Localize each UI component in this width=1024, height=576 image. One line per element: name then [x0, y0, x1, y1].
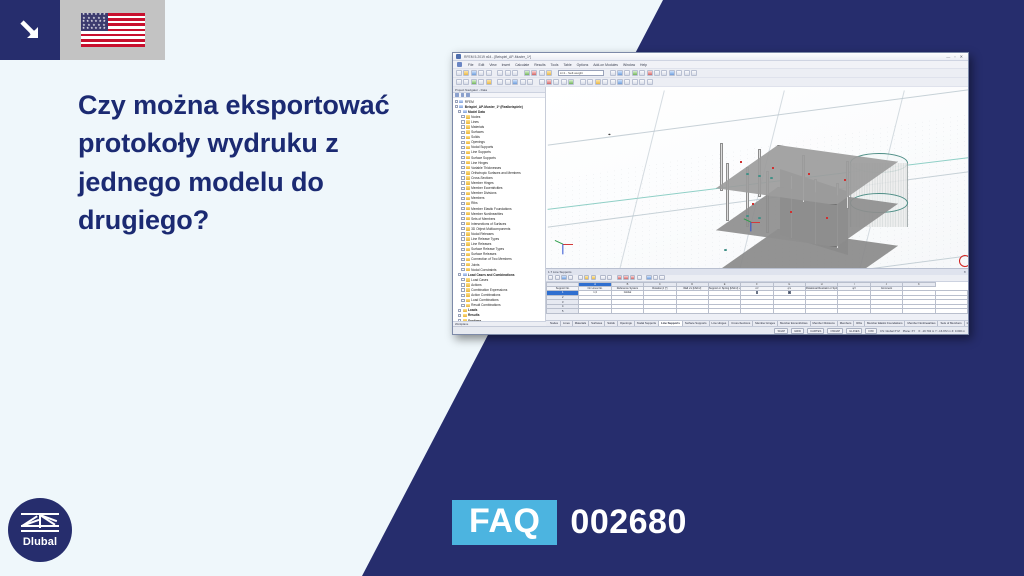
tree-folder-icon: [466, 171, 470, 174]
menu-item-calculate[interactable]: Calculate: [515, 63, 529, 67]
line-load-icon[interactable]: [546, 79, 552, 85]
open-file-icon[interactable]: [463, 70, 469, 76]
navigator-expand-icon[interactable]: [455, 93, 459, 97]
tree-expand-icon[interactable]: [458, 309, 461, 312]
hinge-marker: [724, 249, 727, 251]
node-marker: [752, 203, 754, 205]
tree-item-label: Results: [468, 313, 480, 317]
table-prev-icon[interactable]: [623, 275, 628, 280]
zoom-icon[interactable]: [539, 70, 545, 76]
tree-folder-icon: [463, 273, 467, 276]
tree-item-label: Action Combinations: [471, 293, 500, 297]
surface-load-icon[interactable]: [553, 79, 559, 85]
dlubal-logo: Dlubal: [8, 498, 72, 562]
cut-icon[interactable]: [497, 70, 503, 76]
surface-tool-icon[interactable]: [486, 79, 492, 85]
tree-item-label: Materials: [471, 125, 484, 129]
tree-folder-icon: [463, 110, 467, 113]
line-tool-icon[interactable]: [471, 79, 477, 85]
minimize-icon[interactable]: —: [946, 55, 950, 59]
menu-bar: File Edit View Insert Calculate Results …: [453, 61, 968, 69]
tree-expand-icon[interactable]: [455, 100, 458, 103]
axis-display-icon[interactable]: [647, 79, 653, 85]
tree-expand-icon[interactable]: [461, 212, 464, 215]
status-chip[interactable]: DXF: [865, 328, 877, 334]
tree-expand-icon[interactable]: [461, 120, 464, 123]
table-cell[interactable]: [579, 309, 611, 314]
tree-folder-icon: [466, 197, 470, 200]
menu-item-file[interactable]: File: [468, 63, 473, 67]
print-preview-icon[interactable]: [486, 70, 492, 76]
tree-expand-icon[interactable]: [461, 222, 464, 225]
surface-results-icon[interactable]: [632, 70, 638, 76]
faq-badge: FAQ: [452, 500, 557, 545]
tree-expand-icon[interactable]: [461, 268, 464, 271]
node-marker: [740, 161, 742, 163]
navigator-collapse-icon[interactable]: [461, 93, 465, 97]
support-tool-icon[interactable]: [512, 79, 518, 85]
tree-item-label: Surface Supports: [471, 156, 496, 160]
tree-item-label: Line Supports: [471, 150, 491, 154]
checkbox-icon[interactable]: [756, 291, 759, 294]
view-xy-icon[interactable]: [676, 70, 682, 76]
tree-item-label: Solids: [471, 135, 480, 139]
tree-folder-icon: [466, 278, 470, 281]
select-icon[interactable]: [456, 79, 462, 85]
grid-toggle-icon[interactable]: [654, 70, 660, 76]
tree-folder-icon: [466, 120, 470, 123]
comment-cell[interactable]: [935, 309, 968, 314]
tree-item-label: Load Combinations: [471, 298, 498, 302]
rfem-application-screenshot: RFEM 5.2019 x64 - [Beispiel_AP-Muster_1*…: [452, 52, 969, 335]
dlubal-truss-icon: [21, 513, 59, 533]
menu-item-insert[interactable]: Insert: [502, 63, 510, 67]
new-file-icon[interactable]: [456, 70, 462, 76]
tree-folder-icon: [466, 253, 470, 256]
tree-expand-icon[interactable]: [461, 202, 464, 205]
tree-expand-icon[interactable]: [461, 217, 464, 220]
tree-folder-icon: [466, 151, 470, 154]
table-panel: 1.7 Line Supports ✕ ABCDEFGH: [546, 268, 968, 326]
table-cell[interactable]: [644, 309, 676, 314]
tree-folder-icon: [466, 258, 470, 261]
tree-item-label: Member Nonlinearities: [471, 212, 503, 216]
node-marker: [808, 173, 810, 175]
clipping-icon[interactable]: [639, 79, 645, 85]
tree-item-label: Openings: [471, 140, 485, 144]
close-icon[interactable]: ✕: [960, 55, 963, 59]
table-export-icon[interactable]: [653, 275, 658, 280]
tree-folder-icon: [466, 161, 470, 164]
tree-item-label: Lines: [471, 120, 479, 124]
tree-expand-icon[interactable]: [461, 248, 464, 251]
united-states-flag-icon: ★★★★★★ ★★★★★ ★★★★★★ ★★★★★ ★★★★★★: [81, 13, 145, 47]
faq-number: 002680: [570, 503, 686, 542]
node-marker: [772, 167, 774, 169]
status-chip[interactable]: CARTES: [807, 328, 824, 334]
tree-folder-icon: [466, 222, 470, 225]
tree-expand-icon[interactable]: [461, 288, 464, 291]
table-last-icon[interactable]: [637, 275, 642, 280]
tree-expand-icon[interactable]: [461, 283, 464, 286]
secondary-toolbar: [453, 78, 968, 87]
paste-icon[interactable]: [512, 70, 518, 76]
table-checkbox-cell[interactable]: [806, 309, 838, 314]
arrow-down-right-icon: [0, 0, 60, 60]
menu-item-options[interactable]: Options: [577, 63, 589, 67]
node-tool-icon[interactable]: [463, 79, 469, 85]
tree-expand-icon[interactable]: [461, 299, 464, 302]
view-iso-icon[interactable]: [669, 70, 675, 76]
settings-icon[interactable]: [610, 79, 616, 85]
tree-item-label: Loads: [468, 308, 477, 312]
table-close-icon[interactable]: ✕: [963, 270, 968, 274]
member-results-icon[interactable]: [639, 70, 645, 76]
tree-item-label: Nodes: [471, 115, 480, 119]
table-redo-icon[interactable]: [607, 275, 612, 280]
table-print-icon[interactable]: [659, 275, 664, 280]
tree-item-label: Member Eccentricities: [471, 186, 502, 190]
tree-folder-icon: [466, 268, 470, 271]
status-chip[interactable]: SNAP: [774, 328, 788, 334]
tree-expand-icon[interactable]: [461, 156, 464, 159]
tree-item-label: Surface Release Types: [471, 247, 504, 251]
table-new-row-icon[interactable]: [548, 275, 553, 280]
calculate-icon[interactable]: [610, 70, 616, 76]
tree-item-label: 3D Object Multicomponents: [471, 227, 510, 231]
table-checkbox-cell[interactable]: [903, 309, 935, 314]
table-next-icon[interactable]: [630, 275, 635, 280]
global-axis-triad: [562, 239, 576, 253]
tree-expand-icon[interactable]: [461, 115, 464, 118]
tree-item-label: Nodal Constraints: [471, 268, 496, 272]
tree-folder-icon: [466, 176, 470, 179]
menu-item-window[interactable]: Window: [623, 63, 635, 67]
tree-folder-icon: [466, 146, 470, 149]
measure-icon[interactable]: [587, 79, 593, 85]
tree-expand-icon[interactable]: [461, 171, 464, 174]
results-icon[interactable]: [617, 70, 623, 76]
view-xz-icon[interactable]: [684, 70, 690, 76]
thickness-tool-icon[interactable]: [527, 79, 533, 85]
tree-item-label: Surface Releases: [471, 252, 496, 256]
free-load-icon[interactable]: [561, 79, 567, 85]
node-marker: [826, 217, 828, 219]
tree-folder-icon: [466, 227, 470, 230]
section-icon[interactable]: [632, 79, 638, 85]
tree-item-label: Member Hinges: [471, 181, 494, 185]
table-first-icon[interactable]: [617, 275, 622, 280]
tree-item-label: RFEM: [465, 100, 474, 104]
table-delete-row-icon[interactable]: [555, 275, 560, 280]
tree-expand-icon[interactable]: [455, 105, 458, 108]
table-checkbox-cell[interactable]: [773, 309, 805, 314]
node-marker: [844, 179, 846, 181]
tree-folder-icon: [466, 136, 470, 139]
tree-folder-icon: [466, 186, 470, 189]
printout-report-icon[interactable]: [595, 79, 601, 85]
table-toolbar: [546, 275, 968, 282]
table-color-icon[interactable]: [591, 275, 596, 280]
status-toggle-chips[interactable]: SNAPGRIDCARTESOSNAPGLINESDXF: [774, 328, 877, 334]
tree-expand-icon[interactable]: [461, 125, 464, 128]
local-axis-triad: [750, 217, 762, 229]
tree-folder-icon: [463, 309, 467, 312]
tree-item-label: Line Releases: [471, 242, 491, 246]
tree-folder-icon: [466, 237, 470, 240]
tree-item-label: Line Release Types: [471, 237, 499, 241]
tree-folder-icon: [466, 141, 470, 144]
column: [726, 163, 729, 221]
tree-expand-icon[interactable]: [461, 263, 464, 266]
model-tree[interactable]: RFEMBeispiel_AP-Muster_1* (Realbeispiele…: [453, 98, 545, 329]
tree-expand-icon[interactable]: [458, 110, 461, 113]
tree-folder-icon: [466, 283, 470, 286]
tree-expand-icon[interactable]: [461, 243, 464, 246]
tree-item-label: Surfaces: [471, 130, 484, 134]
tree-item-label: Line Hinges: [471, 161, 488, 165]
main-toolbar: LC1 - Self-weight: [453, 69, 968, 78]
tree-item-label: Load Cases: [471, 278, 488, 282]
status-chip[interactable]: OSNAP: [827, 328, 843, 334]
mouse-cursor-icon: ⌖: [608, 133, 612, 138]
screenshot-icon[interactable]: [602, 79, 608, 85]
tree-expand-icon[interactable]: [461, 166, 464, 169]
menu-item-help[interactable]: Help: [640, 63, 647, 67]
redo-icon[interactable]: [531, 70, 537, 76]
tree-expand-icon[interactable]: [461, 181, 464, 184]
window-titlebar: RFEM 5.2019 x64 - [Beispiel_AP-Muster_1*…: [453, 53, 968, 61]
tree-item-label: Members: [471, 196, 484, 200]
tree-expand-icon[interactable]: [461, 176, 464, 179]
status-bar: SNAPGRIDCARTESOSNAPGLINESDXF CS: Global …: [453, 326, 968, 334]
tree-folder-icon: [463, 314, 467, 317]
tree-folder-icon: [466, 293, 470, 296]
page-title: Czy można eksportować protokoły wydruku …: [78, 86, 438, 239]
tree-expand-icon[interactable]: [461, 294, 464, 297]
snap-toggle-icon[interactable]: [661, 70, 667, 76]
logo-wordmark: Dlubal: [23, 536, 57, 548]
tree-expand-icon[interactable]: [461, 227, 464, 230]
column-letter-header[interactable]: K: [903, 282, 935, 286]
tree-item-label: Model Data: [468, 110, 485, 114]
tree-folder-icon: [466, 207, 470, 210]
table-edit-icon[interactable]: [561, 275, 566, 280]
tree-expand-icon[interactable]: [461, 187, 464, 190]
top-left-badges: ★★★★★★ ★★★★★ ★★★★★★ ★★★★★ ★★★★★★: [0, 0, 165, 60]
tree-expand-icon[interactable]: [461, 161, 464, 164]
tree-item-label: Cross-Sections: [471, 176, 493, 180]
tree-folder-icon: [466, 156, 470, 159]
maximize-icon[interactable]: ▫: [954, 55, 955, 59]
tree-expand-icon[interactable]: [461, 232, 464, 235]
table-undo-icon[interactable]: [600, 275, 605, 280]
tree-folder-icon: [466, 202, 470, 205]
status-coords: X: -19.702 m Y: -16.972 m Z: 0.000 m: [918, 329, 965, 333]
tree-item-label: Variable Thicknesses: [471, 166, 501, 170]
menu-item-table[interactable]: Table: [563, 63, 571, 67]
save-icon[interactable]: [471, 70, 477, 76]
tree-item-label: Member Divisions: [471, 191, 496, 195]
tree-expand-icon[interactable]: [461, 197, 464, 200]
support-reaction-icon[interactable]: [647, 70, 653, 76]
tree-item-label: Actions: [471, 283, 481, 287]
tree-item-label: Beispiel_AP-Muster_1* (Realbeispiele): [465, 105, 523, 109]
table-filter-icon[interactable]: [578, 275, 583, 280]
tree-folder-icon: [466, 181, 470, 184]
table-checkbox-cell[interactable]: [838, 309, 870, 314]
menu-app-icon: [457, 62, 462, 67]
tree-folder-icon: [459, 100, 463, 103]
faq-footer: FAQ 002680: [452, 500, 687, 545]
tree-expand-icon[interactable]: [461, 136, 464, 139]
tree-item-label: Sets of Members: [471, 217, 495, 221]
tree-folder-icon: [466, 304, 470, 307]
load-case-select[interactable]: LC1 - Self-weight: [558, 70, 604, 76]
tree-item-label: Nodal Supports: [471, 145, 493, 149]
table-row[interactable]: 5: [547, 309, 968, 314]
status-chip[interactable]: GRID: [791, 328, 804, 334]
table-title-text: 1.7 Line Supports: [548, 270, 572, 274]
menu-item-edit[interactable]: Edit: [478, 63, 484, 67]
tree-item-label: Load Cases and Combinations: [468, 273, 515, 277]
deformation-icon[interactable]: [624, 70, 630, 76]
tree-item-label: Connection of Two Members: [471, 257, 512, 261]
copy-icon[interactable]: [505, 70, 511, 76]
table-checkbox-cell[interactable]: [741, 309, 773, 314]
tree-expand-icon[interactable]: [461, 258, 464, 261]
tree-folder-icon: [466, 192, 470, 195]
tree-item-label: Member Elastic Foundations: [471, 207, 511, 211]
table-copy-icon[interactable]: [568, 275, 573, 280]
tree-item-label: Intersections of Surfaces: [471, 222, 506, 226]
app-icon: [456, 54, 461, 59]
tree-folder-icon: [466, 115, 470, 118]
menu-item-results[interactable]: Results: [534, 63, 545, 67]
checkbox-icon[interactable]: [788, 291, 791, 294]
render-icon[interactable]: [546, 70, 552, 76]
tree-expand-icon[interactable]: [461, 304, 464, 307]
tree-expand-icon[interactable]: [461, 146, 464, 149]
layer-visibility-icon[interactable]: [617, 79, 623, 85]
tree-expand-icon[interactable]: [461, 192, 464, 195]
solid-tool-icon[interactable]: [497, 79, 503, 85]
tree-item-label: Result Combinations: [471, 303, 500, 307]
tree-expand-icon[interactable]: [461, 141, 464, 144]
tree-folder-icon: [466, 263, 470, 266]
tree-item-label: Combination Expressions: [471, 288, 507, 292]
tree-folder-icon: [466, 212, 470, 215]
imperfection-icon[interactable]: [568, 79, 574, 85]
status-chip[interactable]: GLINES: [846, 328, 862, 334]
undo-icon[interactable]: [524, 70, 530, 76]
menu-item-tools[interactable]: Tools: [551, 63, 559, 67]
tree-item-label: Joints: [471, 263, 479, 267]
table-highlight-icon[interactable]: [584, 275, 589, 280]
member-tool-icon[interactable]: [478, 79, 484, 85]
line-supports-table[interactable]: ABCDEFGHIJKSupport No.On Lines No.Refere…: [546, 282, 968, 315]
tree-expand-icon[interactable]: [461, 151, 464, 154]
view-yz-icon[interactable]: [691, 70, 697, 76]
tree-expand-icon[interactable]: [458, 273, 461, 276]
tree-expand-icon[interactable]: [461, 207, 464, 210]
row-number-cell[interactable]: 5: [547, 309, 579, 314]
tree-folder-icon: [466, 242, 470, 245]
project-navigator-panel: Project Navigator - Data RFEMBeispiel_AP…: [453, 87, 546, 335]
table-checkbox-cell[interactable]: [708, 309, 740, 314]
status-coordinate-system: CS: Global XYZ: [880, 329, 900, 333]
tree-folder-icon: [459, 105, 463, 108]
tree-expand-icon[interactable]: [461, 278, 464, 281]
status-plane: Plane: XY: [903, 329, 915, 333]
navigator-refresh-icon[interactable]: [466, 93, 470, 97]
hinge-tool-icon[interactable]: [520, 79, 526, 85]
table-cell[interactable]: [611, 309, 643, 314]
tree-folder-icon: [466, 217, 470, 220]
dimension-icon[interactable]: [580, 79, 586, 85]
tree-item-label: Nodal Releases: [471, 232, 494, 236]
tree-expand-icon[interactable]: [461, 237, 464, 240]
tree-folder-icon: [466, 248, 470, 251]
tree-expand-icon[interactable]: [458, 314, 461, 317]
tree-item-label: Orthotropic Surfaces and Members: [471, 171, 521, 175]
tree-folder-icon: [466, 232, 470, 235]
tree-item-label: Ribs: [471, 201, 477, 205]
nodal-load-icon[interactable]: [539, 79, 545, 85]
menu-item-add-on-modules[interactable]: Add-on Modules: [593, 63, 618, 67]
filter-icon[interactable]: [624, 79, 630, 85]
print-icon[interactable]: [478, 70, 484, 76]
tree-folder-icon: [466, 288, 470, 291]
highlight-circle-annotation: [959, 255, 968, 267]
tree-folder-icon: [466, 125, 470, 128]
menu-item-view[interactable]: View: [489, 63, 496, 67]
tree-folder-icon: [466, 299, 470, 302]
table-settings-icon[interactable]: [646, 275, 651, 280]
table-cell[interactable]: [676, 309, 708, 314]
language-flag-button[interactable]: ★★★★★★ ★★★★★ ★★★★★★ ★★★★★ ★★★★★★: [60, 0, 165, 60]
table-checkbox-cell[interactable]: [870, 309, 902, 314]
opening-tool-icon[interactable]: [505, 79, 511, 85]
tree-folder-icon: [466, 166, 470, 169]
window-title: RFEM 5.2019 x64 - [Beispiel_AP-Muster_1*…: [464, 55, 531, 59]
tree-expand-icon[interactable]: [461, 253, 464, 256]
tree-expand-icon[interactable]: [461, 131, 464, 134]
tree-folder-icon: [466, 130, 470, 133]
node-marker: [790, 211, 792, 213]
